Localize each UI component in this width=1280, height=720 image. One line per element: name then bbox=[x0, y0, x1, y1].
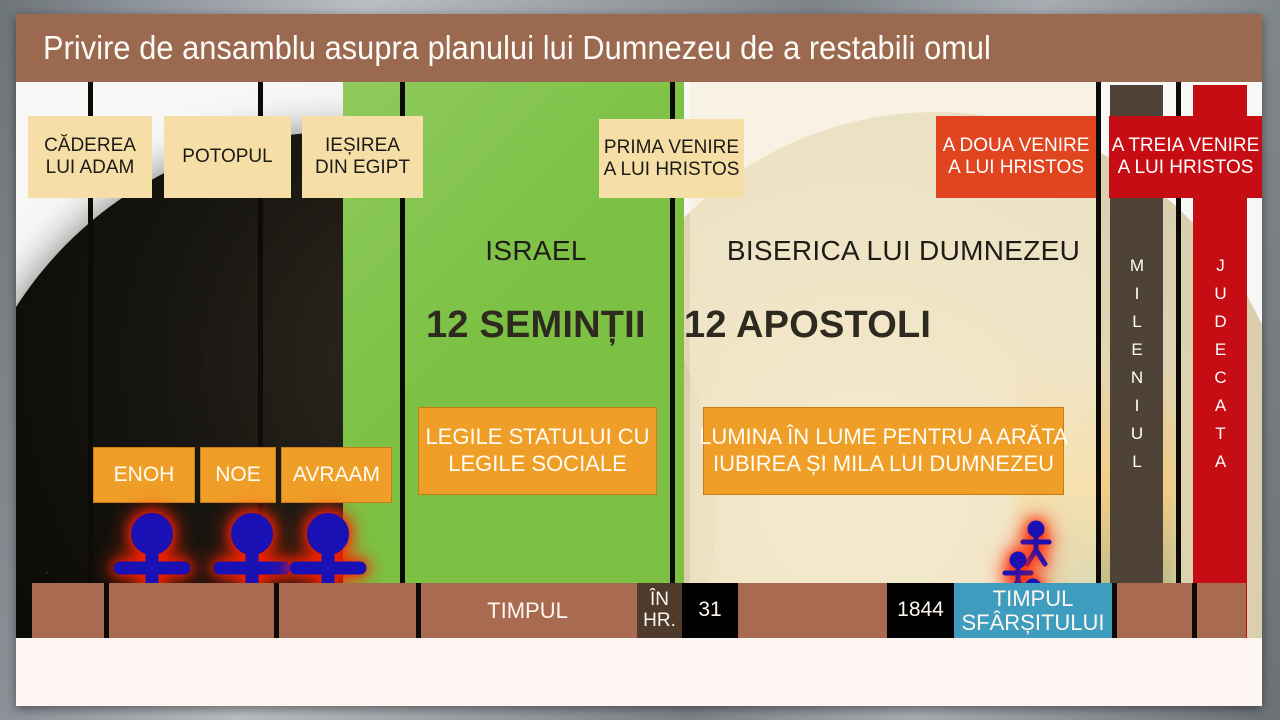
israel-heading: ISRAEL bbox=[406, 235, 666, 267]
box-enoh[interactable]: ENOH bbox=[93, 447, 195, 503]
label-line2: DIN EGIPT bbox=[315, 157, 410, 179]
church-subheading: 12 APOSTOLI bbox=[684, 304, 931, 347]
page-title: Privire de ansamblu asupra planului lui … bbox=[16, 29, 991, 67]
label-line1: CĂDEREA bbox=[44, 135, 136, 157]
label-line2: A LUI HRISTOS bbox=[948, 157, 1084, 179]
church-info-line2: IUBIREA ȘI MILA LUI DUMNEZEU bbox=[713, 451, 1054, 478]
israel-info-line1: LEGILE STATULUI CU bbox=[425, 424, 649, 451]
box-avraam-label: AVRAAM bbox=[293, 463, 380, 487]
slide: Privire de ansamblu asupra planului lui … bbox=[16, 14, 1262, 706]
label-line2: LUI ADAM bbox=[46, 157, 135, 179]
timeline-year-1844-label: 1844 bbox=[897, 599, 944, 622]
timeline-divider-mileniu-judecata bbox=[1192, 583, 1197, 638]
label-line2: A LUI HRISTOS bbox=[1118, 157, 1254, 179]
label-caderea-lui-adam[interactable]: CĂDEREA LUI ADAM bbox=[28, 116, 152, 198]
timeline-timpul-label: TIMPUL bbox=[487, 599, 568, 623]
timeline-segment-year-31[interactable]: 31 bbox=[682, 583, 738, 638]
timeline-in-hr-line2: HR. bbox=[643, 611, 676, 632]
box-noe[interactable]: NOE bbox=[200, 447, 276, 503]
label-a-doua-venire-a-lui-hristos[interactable]: A DOUA VENIRE A LUI HRISTOS bbox=[936, 116, 1096, 198]
timeline-sfarsit-line2: SFÂRȘITULUI bbox=[961, 611, 1104, 635]
timeline-in-hr-line1: ÎN bbox=[650, 590, 669, 611]
label-a-treia-venire-a-lui-hristos[interactable]: A TREIA VENIRE A LUI HRISTOS bbox=[1109, 116, 1262, 198]
label-line2: A LUI HRISTOS bbox=[604, 159, 740, 181]
israel-info-line2: LEGILE SOCIALE bbox=[448, 451, 627, 478]
timeline-divider-adam bbox=[104, 583, 109, 638]
label-iesirea-din-egipt[interactable]: IEȘIREA DIN EGIPT bbox=[302, 116, 423, 198]
church-heading: BISERICA LUI DUMNEZEU bbox=[706, 235, 1101, 267]
column-mileniul-label: MILENIUL bbox=[1127, 256, 1147, 480]
label-line1: PRIMA VENIRE bbox=[604, 137, 739, 159]
divider-church-end bbox=[1096, 82, 1101, 651]
israel-info-box[interactable]: LEGILE STATULUI CU LEGILE SOCIALE bbox=[418, 407, 657, 495]
timeline-bar: TIMPUL ÎN HR. 31 1844 TIMPUL SFÂRȘITULUI bbox=[32, 583, 1246, 638]
column-judecata-label: JUDECATA bbox=[1210, 256, 1230, 480]
label-prima-venire-a-lui-hristos[interactable]: PRIMA VENIRE A LUI HRISTOS bbox=[599, 119, 744, 198]
church-info-line1: LUMINA ÎN LUME PENTRU A ARĂTA bbox=[699, 424, 1068, 451]
label-line1: POTOPUL bbox=[182, 146, 272, 168]
timeline-sfarsit-line1: TIMPUL bbox=[993, 587, 1074, 611]
timeline-divider-potop bbox=[274, 583, 279, 638]
timeline-segment-timpul-sfarsitului[interactable]: TIMPUL SFÂRȘITULUI bbox=[954, 583, 1112, 638]
label-line1: A TREIA VENIRE bbox=[1112, 135, 1259, 157]
label-line1: A DOUA VENIRE bbox=[943, 135, 1090, 157]
slide-bottom-strip bbox=[16, 638, 1262, 706]
title-bar: Privire de ansamblu asupra planului lui … bbox=[16, 14, 1262, 82]
church-info-box[interactable]: LUMINA ÎN LUME PENTRU A ARĂTA IUBIREA ȘI… bbox=[703, 407, 1064, 495]
label-line1: IEȘIREA bbox=[325, 135, 400, 157]
timeline-segment-in-hr[interactable]: ÎN HR. bbox=[637, 583, 682, 638]
box-enoh-label: ENOH bbox=[114, 463, 175, 487]
box-noe-label: NOE bbox=[215, 463, 261, 487]
timeline-divider-church-end bbox=[1112, 583, 1117, 638]
timeline-segment-timpul[interactable]: TIMPUL bbox=[418, 583, 637, 638]
israel-subheading: 12 SEMINȚII bbox=[426, 304, 646, 347]
timeline-year-31-label: 31 bbox=[698, 599, 721, 622]
timeline-divider-egipt bbox=[416, 583, 421, 638]
timeline-segment-year-1844[interactable]: 1844 bbox=[887, 583, 954, 638]
box-avraam[interactable]: AVRAAM bbox=[281, 447, 392, 503]
label-potopul[interactable]: POTOPUL bbox=[164, 116, 291, 198]
